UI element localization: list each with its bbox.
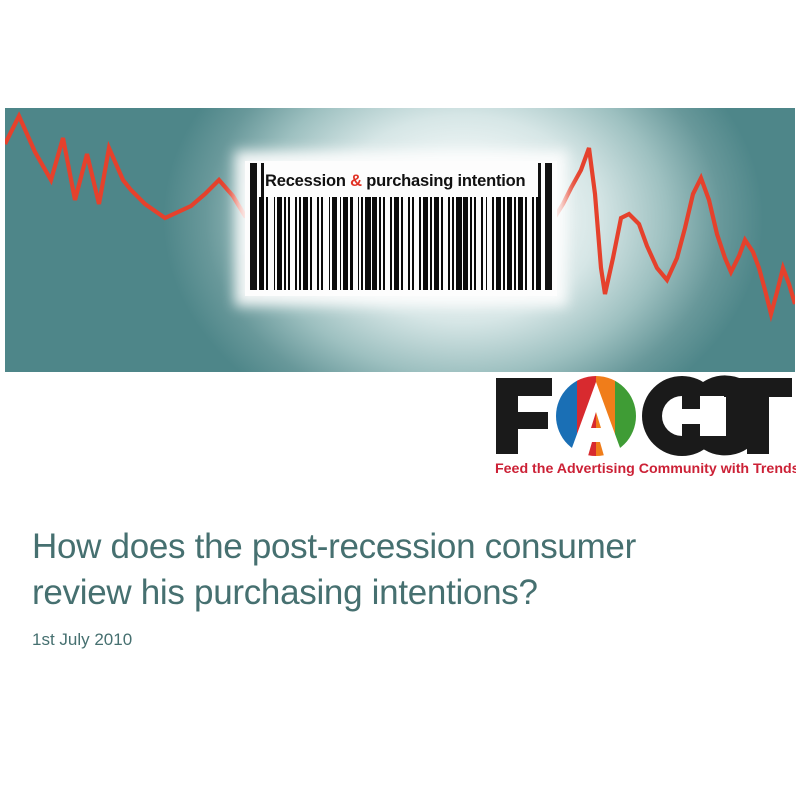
hero-banner-image: Recession & purchasing intention: [5, 108, 795, 372]
page-title-line-2: review his purchasing intentions?: [32, 570, 752, 616]
barcode-guard-bar-right: [545, 163, 552, 290]
barcode-guard-bar-left: [250, 163, 257, 290]
page-title-line-1: How does the post-recession consumer: [32, 524, 752, 570]
logo-letter-f: [496, 378, 552, 454]
barcode-bar: [541, 197, 543, 290]
fact-logo: Feed the Advertising Community with Tren…: [492, 372, 796, 480]
barcode-bars: [259, 197, 543, 290]
slide-canvas: Recession & purchasing intention: [0, 0, 800, 800]
logo-letter-a: [556, 376, 636, 456]
publication-date: 1st July 2010: [32, 628, 132, 652]
fact-logo-artwork: Feed the Advertising Community with Tren…: [492, 372, 796, 480]
barcode-graphic: Recession & purchasing intention: [245, 161, 557, 296]
logo-tagline: Feed the Advertising Community with Tren…: [495, 461, 796, 477]
caption-ampersand: &: [350, 172, 362, 190]
barcode-caption-text: Recession & purchasing intention: [265, 168, 535, 194]
caption-part-before: Recession: [265, 172, 350, 190]
page-title: How does the post-recession consumer rev…: [32, 524, 752, 616]
caption-part-after: purchasing intention: [362, 172, 526, 190]
